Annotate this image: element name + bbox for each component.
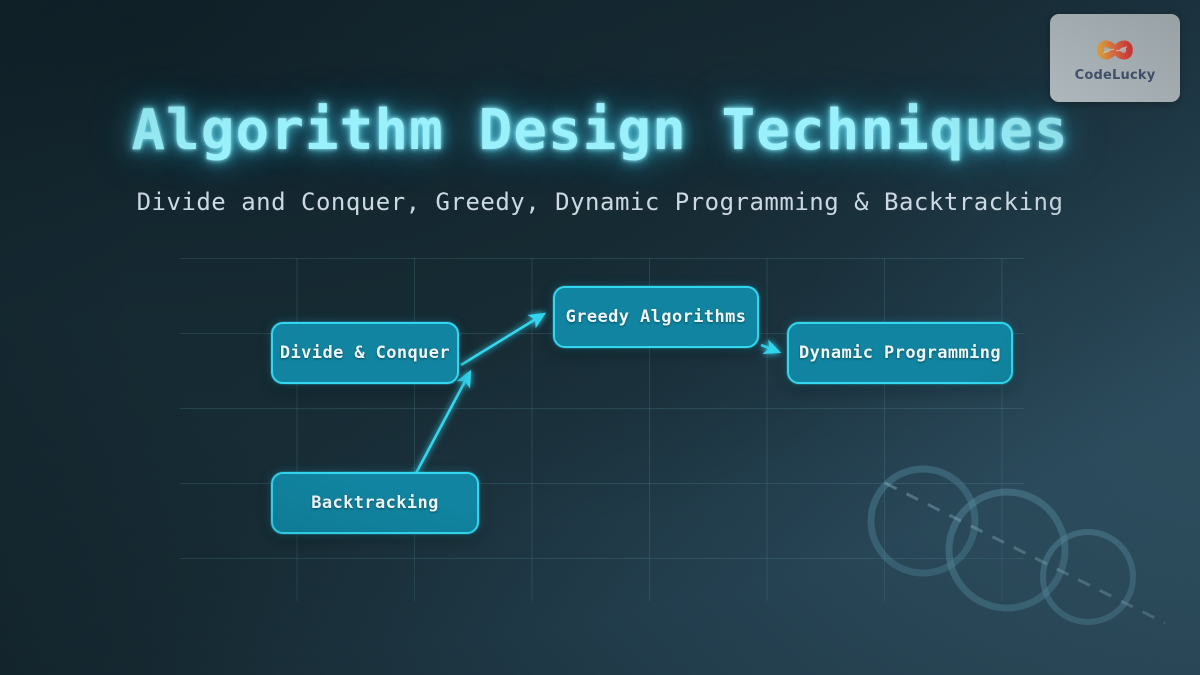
edge-greedy-to-dynamic xyxy=(761,345,779,352)
node-label: Divide & Conquer xyxy=(280,343,450,363)
slide-canvas: Divide & Conquer Greedy Algorithms Dynam… xyxy=(0,0,1200,675)
page-subtitle: Divide and Conquer, Greedy, Dynamic Prog… xyxy=(0,188,1200,216)
node-dynamic-programming[interactable]: Dynamic Programming xyxy=(787,322,1013,384)
page-title: Algorithm Design Techniques xyxy=(0,98,1200,163)
node-label: Greedy Algorithms xyxy=(566,307,747,327)
decorative-dashed-line xyxy=(855,455,1175,655)
brand-name: CodeLucky xyxy=(1075,68,1156,83)
node-divide-and-conquer[interactable]: Divide & Conquer xyxy=(271,322,459,384)
node-backtracking[interactable]: Backtracking xyxy=(271,472,479,534)
brand-logo-card[interactable]: CodeLucky xyxy=(1050,14,1180,102)
decorative-circles xyxy=(860,455,1160,645)
node-greedy-algorithms[interactable]: Greedy Algorithms xyxy=(553,286,759,348)
infinity-icon xyxy=(1084,33,1146,67)
node-label: Backtracking xyxy=(311,493,439,513)
edge-divide-to-greedy xyxy=(461,314,544,365)
node-label: Dynamic Programming xyxy=(799,343,1001,363)
